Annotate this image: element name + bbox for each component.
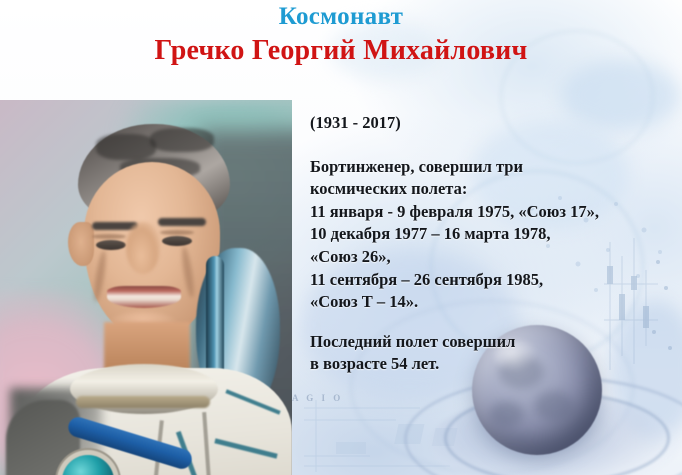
- flight-line-5: «Союз Т – 14».: [310, 291, 670, 314]
- page-title-kicker: Космонавт: [0, 2, 682, 32]
- flight-line-1: 11 января - 9 февраля 1975, «Союз 17»,: [310, 201, 670, 224]
- role-line-2: космических полета:: [310, 178, 670, 201]
- title-block: Космонавт Гречко Георгий Михайлович: [0, 2, 682, 68]
- portrait-brow-right: [158, 218, 206, 226]
- portrait-nose: [126, 222, 160, 274]
- portrait-ear: [68, 222, 94, 266]
- slide-canvas: A G I O Космонавт Гречко Георгий Михайло…: [0, 0, 682, 475]
- flight-line-4: 11 сентября – 26 сентября 1985,: [310, 269, 670, 292]
- biography-text-block: (1931 - 2017) Бортинженер, совершил три …: [310, 112, 670, 376]
- cosmonaut-photo: ☭ СССР ★: [0, 100, 292, 475]
- role-line-1: Бортинженер, совершил три: [310, 156, 670, 179]
- spacesuit-collar-band: [76, 396, 210, 408]
- portrait-mouth: [107, 286, 181, 308]
- agio-watermark: A G I O: [292, 393, 343, 403]
- portrait-eye-left: [96, 240, 126, 250]
- closing-line-1: Последний полет совершил: [310, 331, 670, 354]
- page-title-name: Гречко Георгий Михайлович: [0, 34, 682, 68]
- flight-line-3: «Союз 26»,: [310, 246, 670, 269]
- flight-line-2: 10 декабря 1977 – 16 марта 1978,: [310, 223, 670, 246]
- closing-line-2: в возрасте 54 лет.: [310, 353, 670, 376]
- lifespan-line: (1931 - 2017): [310, 112, 670, 135]
- portrait-eye-right: [162, 236, 192, 246]
